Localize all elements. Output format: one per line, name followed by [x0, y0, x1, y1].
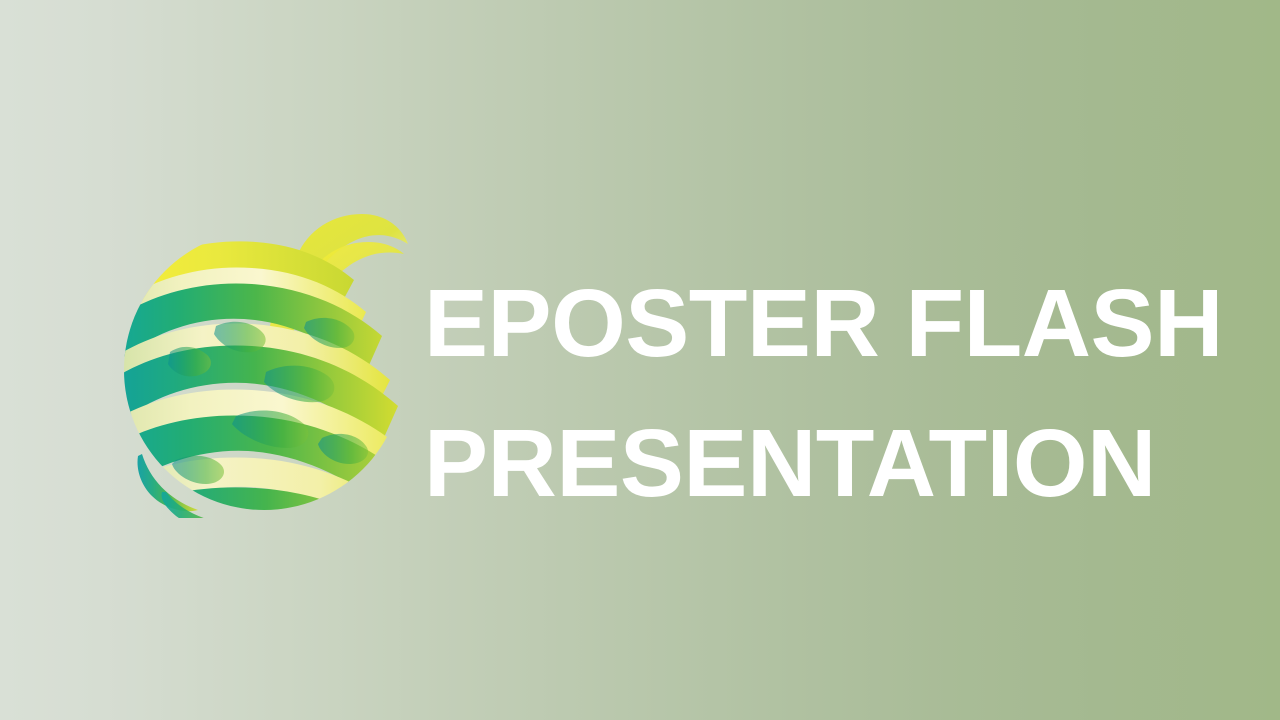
globe-ribbon-logo	[116, 202, 412, 518]
title-line-1: EPOSTER FLASH	[424, 254, 1224, 394]
globe-ribbons	[116, 241, 412, 518]
slide-title: EPOSTER FLASH PRESENTATION	[424, 254, 1224, 534]
presentation-slide: EPOSTER FLASH PRESENTATION	[0, 0, 1280, 720]
title-line-2: PRESENTATION	[424, 394, 1224, 534]
